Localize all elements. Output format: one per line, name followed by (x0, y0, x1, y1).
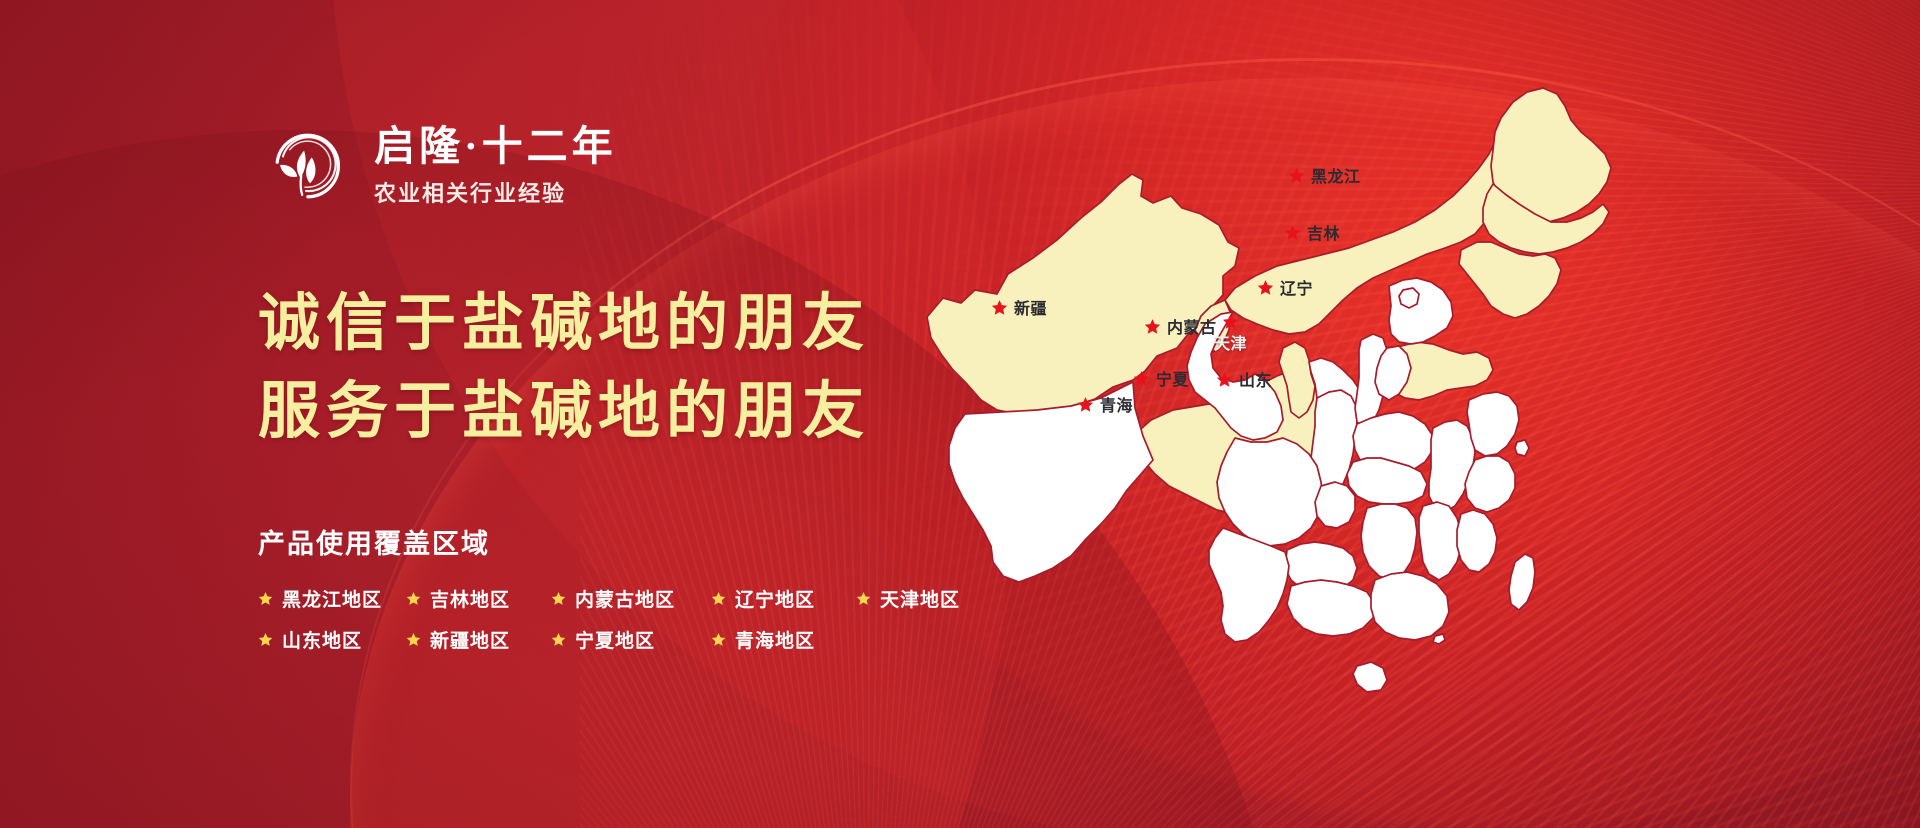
left-content-column: 启隆·十二年 农业相关行业经验 诚信于盐碱地的朋友 服务于盐碱地的朋友 产品使用… (258, 118, 1018, 653)
region-item[interactable]: 新疆地区 (406, 626, 551, 653)
brand-text: 启隆·十二年 农业相关行业经验 (374, 124, 617, 208)
coverage-block: 产品使用覆盖区域 黑龙江地区吉林地区内蒙古地区辽宁地区天津地区山东地区新疆地区宁… (258, 522, 1018, 653)
star-icon (406, 591, 421, 606)
region-label: 吉林地区 (430, 585, 510, 612)
region-item[interactable]: 天津地区 (856, 585, 1016, 612)
province-jiangxi (1419, 502, 1461, 580)
star-icon (551, 591, 566, 606)
star-icon (711, 591, 726, 606)
province-chongqing (1315, 482, 1355, 528)
region-label: 新疆地区 (430, 626, 510, 653)
province-zhejiang (1465, 456, 1515, 512)
region-item[interactable]: 黑龙江地区 (258, 585, 406, 612)
star-icon (406, 632, 421, 647)
brand-title: 启隆·十二年 (374, 124, 617, 168)
coverage-region-list: 黑龙江地区吉林地区内蒙古地区辽宁地区天津地区山东地区新疆地区宁夏地区青海地区 (258, 585, 1018, 653)
province-fujian (1457, 510, 1497, 572)
province-beijing (1399, 288, 1419, 308)
region-label: 辽宁地区 (735, 585, 815, 612)
star-icon (711, 632, 726, 647)
china-provinces-map: .hl { fill:#f8f0bd; stroke:#a51c2c; stro… (905, 62, 1665, 762)
promo-banner: 启隆·十二年 农业相关行业经验 诚信于盐碱地的朋友 服务于盐碱地的朋友 产品使用… (0, 0, 1920, 828)
headline-line-2: 服务于盐碱地的朋友 (258, 368, 1018, 456)
star-icon (258, 632, 273, 647)
province-guangdong (1371, 572, 1449, 640)
brand-subtitle: 农业相关行业经验 (374, 176, 617, 208)
star-icon (258, 591, 273, 606)
lotus-leaf-circle-logo-icon (258, 118, 354, 214)
region-label: 天津地区 (880, 585, 960, 612)
region-label: 内蒙古地区 (575, 585, 675, 612)
headline-block: 诚信于盐碱地的朋友 服务于盐碱地的朋友 (258, 280, 1018, 456)
province-shanghai (1515, 440, 1529, 456)
region-item[interactable]: 山东地区 (258, 626, 406, 653)
star-icon (551, 632, 566, 647)
province-liaoning (1459, 242, 1561, 318)
region-item[interactable]: 宁夏地区 (551, 626, 711, 653)
region-item[interactable]: 辽宁地区 (711, 585, 856, 612)
province-taiwan (1509, 554, 1535, 610)
headline-line-1: 诚信于盐碱地的朋友 (258, 280, 1018, 368)
region-label: 黑龙江地区 (282, 585, 382, 612)
province-guangxi (1287, 580, 1375, 636)
province-jiangsu (1467, 392, 1519, 456)
province-inner-mongolia (1195, 120, 1541, 352)
province-hongkong (1433, 634, 1445, 644)
coverage-title: 产品使用覆盖区域 (258, 522, 1018, 561)
brand-logo-block: 启隆·十二年 农业相关行业经验 (258, 118, 1018, 214)
region-label: 青海地区 (735, 626, 815, 653)
province-hunan (1361, 504, 1417, 580)
region-label: 山东地区 (282, 626, 362, 653)
region-item[interactable]: 内蒙古地区 (551, 585, 711, 612)
region-item[interactable]: 青海地区 (711, 626, 856, 653)
star-icon (856, 591, 871, 606)
province-sichuan (1217, 438, 1323, 546)
region-label: 宁夏地区 (575, 626, 655, 653)
province-hainan (1353, 662, 1387, 692)
region-item[interactable]: 吉林地区 (406, 585, 551, 612)
